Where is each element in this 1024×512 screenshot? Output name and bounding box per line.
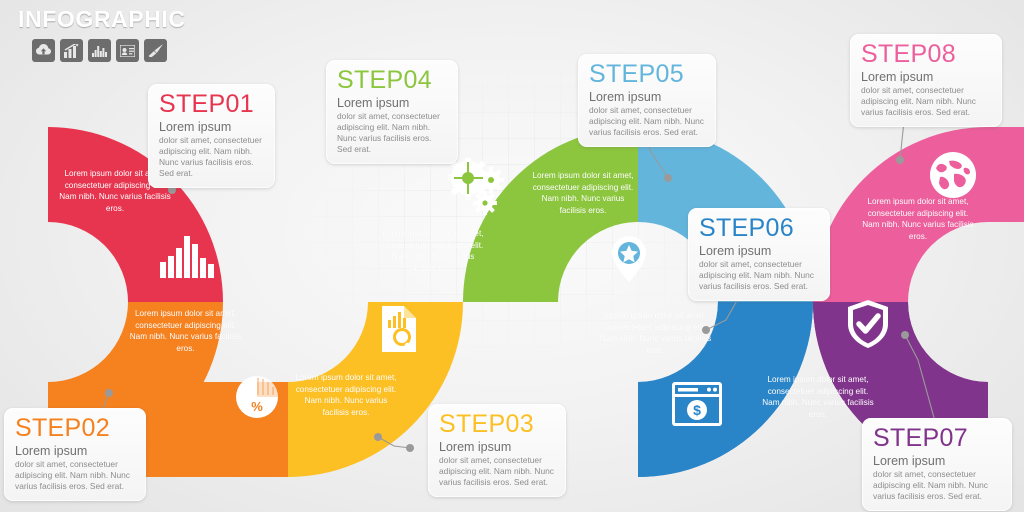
step-body: dolor sit amet, consectetuer adipiscing … — [15, 459, 135, 492]
step-body: dolor sit amet, consectetuer adipiscing … — [439, 455, 555, 488]
header-icon-row — [32, 39, 186, 62]
step-card-step06[interactable]: STEP06 Lorem ipsum dolor sit amet, conse… — [688, 208, 830, 301]
step-subtitle: Lorem ipsum — [873, 454, 1001, 468]
step-subtitle: Lorem ipsum — [861, 70, 991, 84]
step-card-step02[interactable]: STEP02 Lorem ipsum dolor sit amet, conse… — [4, 408, 146, 501]
step-label: STEP04 — [337, 67, 447, 94]
step-subtitle: Lorem ipsum — [439, 440, 555, 454]
step-card-step03[interactable]: STEP03 Lorem ipsum dolor sit amet, conse… — [428, 404, 566, 497]
step-card-step04[interactable]: STEP04 Lorem ipsum dolor sit amet, conse… — [326, 60, 458, 164]
step-label: STEP08 — [861, 41, 991, 68]
step-subtitle: Lorem ipsum — [159, 120, 264, 134]
step-card-step08[interactable]: STEP08 Lorem ipsum dolor sit amet, conse… — [850, 34, 1002, 127]
id-card-icon[interactable] — [116, 39, 139, 62]
header: INFOGRAPHIC — [18, 8, 186, 62]
step-body: dolor sit amet, consectetuer adipiscing … — [337, 111, 447, 155]
pen-icon[interactable] — [144, 39, 167, 62]
step-label: STEP05 — [589, 61, 705, 88]
growth-chart-icon[interactable] — [60, 39, 83, 62]
step-body: dolor sit amet, consectetuer adipiscing … — [699, 259, 819, 292]
step-card-step05[interactable]: STEP05 Lorem ipsum dolor sit amet, conse… — [578, 54, 716, 147]
step-label: STEP07 — [873, 425, 1001, 452]
step-label: STEP01 — [159, 91, 264, 118]
step-label: STEP02 — [15, 415, 135, 442]
step-subtitle: Lorem ipsum — [699, 244, 819, 258]
step-body: dolor sit amet, consectetuer adipiscing … — [861, 85, 991, 118]
step-subtitle: Lorem ipsum — [337, 96, 447, 110]
step-label: STEP03 — [439, 411, 555, 438]
step-body: dolor sit amet, consectetuer adipiscing … — [159, 135, 264, 179]
infographic-canvas: Lorem ipsum dolor sit amet, consectetuer… — [0, 0, 1024, 512]
step-body: dolor sit amet, consectetuer adipiscing … — [589, 105, 705, 138]
step-body: dolor sit amet, consectetuer adipiscing … — [873, 469, 1001, 502]
step-label: STEP06 — [699, 215, 819, 242]
step-card-step01[interactable]: STEP01 Lorem ipsum dolor sit amet, conse… — [148, 84, 275, 188]
step-subtitle: Lorem ipsum — [15, 444, 135, 458]
step-subtitle: Lorem ipsum — [589, 90, 705, 104]
cloud-upload-icon[interactable] — [32, 39, 55, 62]
step-card-step07[interactable]: STEP07 Lorem ipsum dolor sit amet, conse… — [862, 418, 1012, 511]
page-title: INFOGRAPHIC — [18, 8, 186, 31]
bar-chart-icon[interactable] — [88, 39, 111, 62]
